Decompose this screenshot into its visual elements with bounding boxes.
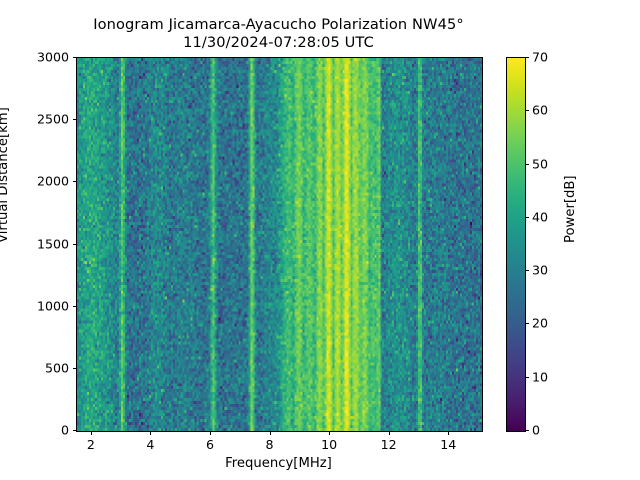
y-tick-mark (73, 119, 77, 120)
x-tick-label: 10 (321, 437, 337, 452)
x-tick-label: 6 (206, 437, 214, 452)
ionogram-heatmap (77, 58, 482, 431)
colorbar-tick-mark (526, 164, 530, 165)
x-tick-mark (150, 431, 151, 435)
colorbar-tick-label: 40 (532, 209, 548, 224)
x-tick-label: 14 (440, 437, 456, 452)
ionogram-plot-area (76, 57, 483, 432)
colorbar-tick-label: 50 (532, 156, 548, 171)
y-tick-mark (73, 181, 77, 182)
colorbar-tick-mark (526, 430, 530, 431)
x-tick-label: 12 (381, 437, 397, 452)
colorbar-tick-label: 70 (532, 50, 548, 65)
chart-title-subtitle: 11/30/2024-07:28:05 UTC (76, 34, 481, 52)
x-tick-label: 2 (87, 437, 95, 452)
colorbar-tick-label: 20 (532, 316, 548, 331)
colorbar-tick-label: 10 (532, 369, 548, 384)
colorbar-tick-label: 60 (532, 103, 548, 118)
colorbar-gradient (507, 58, 525, 431)
chart-title: Ionogram Jicamarca-Ayacucho Polarization… (76, 16, 481, 51)
x-axis-label: Frequency[MHz] (76, 456, 481, 471)
y-tick-mark (73, 368, 77, 369)
x-tick-mark (270, 431, 271, 435)
y-tick-label: 2000 (37, 174, 69, 189)
y-tick-mark (73, 430, 77, 431)
x-tick-mark (448, 431, 449, 435)
colorbar-tick-mark (526, 323, 530, 324)
x-tick-mark (210, 431, 211, 435)
colorbar-label: Power[dB] (563, 175, 578, 243)
y-tick-label: 500 (45, 360, 69, 375)
x-tick-label: 8 (266, 437, 274, 452)
y-tick-label: 1500 (37, 236, 69, 251)
x-tick-mark (329, 431, 330, 435)
x-tick-mark (91, 431, 92, 435)
colorbar-tick-mark (526, 110, 530, 111)
colorbar-tick-mark (526, 377, 530, 378)
figure-canvas: Ionogram Jicamarca-Ayacucho Polarization… (0, 0, 640, 480)
x-tick-label: 4 (146, 437, 154, 452)
y-tick-label: 3000 (37, 50, 69, 65)
colorbar-tick-mark (526, 57, 530, 58)
colorbar-tick-mark (526, 270, 530, 271)
y-axis-label: Virtual Distance[km] (0, 107, 11, 243)
x-tick-mark (389, 431, 390, 435)
colorbar-tick-mark (526, 217, 530, 218)
colorbar-tick-label: 0 (532, 423, 540, 438)
y-tick-mark (73, 57, 77, 58)
y-tick-mark (73, 244, 77, 245)
chart-title-main: Ionogram Jicamarca-Ayacucho Polarization… (76, 16, 481, 34)
y-tick-label: 0 (61, 423, 69, 438)
colorbar-tick-label: 30 (532, 263, 548, 278)
colorbar (506, 57, 526, 432)
y-tick-label: 2500 (37, 112, 69, 127)
y-tick-mark (73, 306, 77, 307)
y-tick-label: 1000 (37, 298, 69, 313)
